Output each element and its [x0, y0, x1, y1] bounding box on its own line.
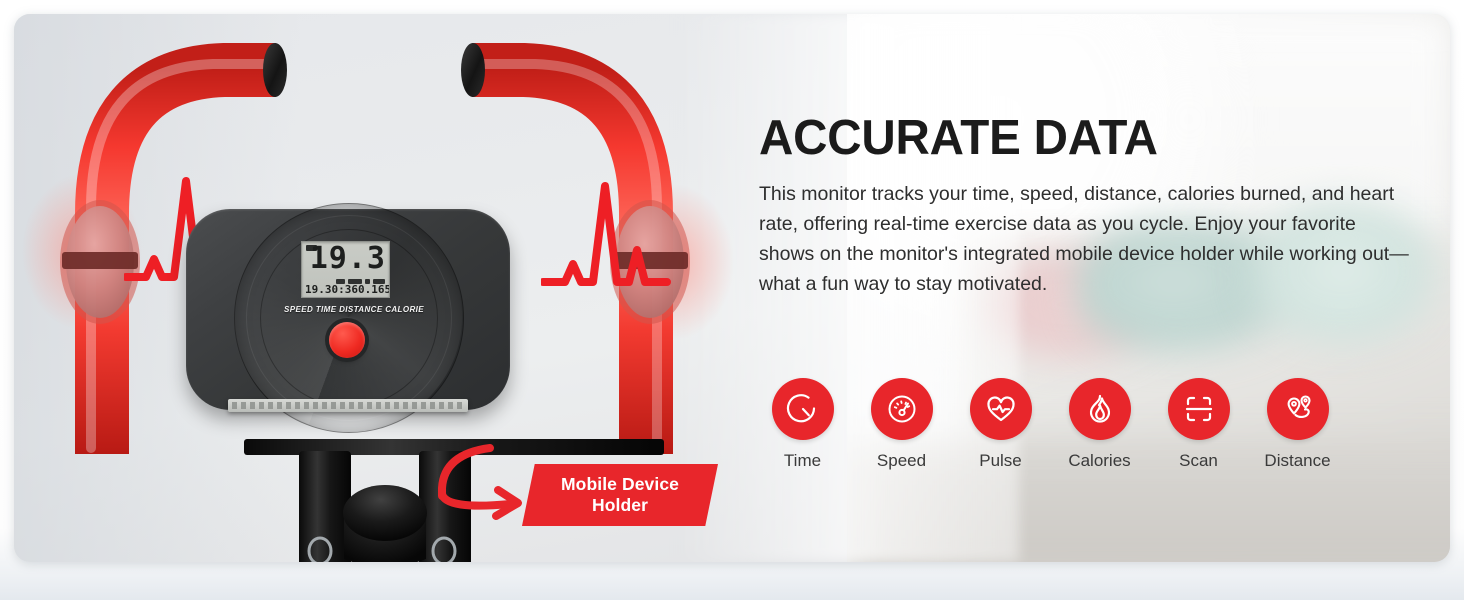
feature-icon-badge: [970, 378, 1032, 440]
feature-icon-badge: [1069, 378, 1131, 440]
body-paragraph: This monitor tracks your time, speed, di…: [759, 179, 1409, 299]
console-mode-button[interactable]: [329, 322, 365, 358]
callout-line-2: Holder: [561, 495, 679, 516]
callout-text: Mobile Device Holder: [561, 474, 679, 516]
feature-speed[interactable]: Speed: [852, 378, 951, 471]
lcd-speed-value: 19.3: [305, 283, 332, 296]
feature-time[interactable]: Time: [753, 378, 852, 471]
feature-icon-badge: [772, 378, 834, 440]
lcd-values-row: 19.3 0:36 0.16 5 P: [302, 282, 389, 296]
exercise-bike-product-image: 19.3 19.3 0:36 0.16 5 P: [14, 14, 734, 562]
copy-block: ACCURATE DATA This monitor tracks your t…: [745, 14, 1450, 562]
lcd-calorie-value: 5: [385, 283, 391, 296]
mobile-device-holder-tray: [228, 399, 468, 412]
map-pin-route-icon: [1281, 392, 1315, 426]
feature-label: Speed: [877, 451, 926, 471]
stopwatch-icon: [786, 392, 820, 426]
feature-label: Time: [784, 451, 821, 471]
page-title: ACCURATE DATA: [759, 110, 1158, 166]
scan-frame-icon: [1182, 392, 1216, 426]
feature-calories[interactable]: Calories: [1050, 378, 1149, 471]
tray-grip-pattern: [232, 402, 464, 409]
feature-icon-badge: [1168, 378, 1230, 440]
lcd-display: 19.3 19.3 0:36 0.16 5 P: [301, 241, 390, 298]
heart-pulse-icon: [984, 392, 1018, 426]
console-unit-labels: SPEED TIME DISTANCE CALORIE: [284, 305, 406, 314]
feature-scan[interactable]: Scan: [1149, 378, 1248, 471]
feature-label: Calories: [1068, 451, 1130, 471]
feature-icon-row: Time: [753, 378, 1353, 471]
bike-console: 19.3 19.3 0:36 0.16 5 P: [186, 209, 510, 410]
feature-label: Pulse: [979, 451, 1022, 471]
mobile-device-holder-callout: Mobile Device Holder: [522, 464, 718, 526]
flame-icon: [1083, 392, 1117, 426]
product-feature-banner: 19.3 19.3 0:36 0.16 5 P: [0, 0, 1464, 600]
lcd-distance-value: 0.16: [358, 283, 385, 296]
feature-label: Distance: [1264, 451, 1330, 471]
feature-icon-badge: [1267, 378, 1329, 440]
feature-pulse[interactable]: Pulse: [951, 378, 1050, 471]
ecg-waveform-right: [541, 164, 751, 344]
feature-label: Scan: [1179, 451, 1218, 471]
gauge-icon: [885, 392, 919, 426]
lcd-main-area: 19.3: [302, 242, 389, 280]
feature-icon-badge: [871, 378, 933, 440]
lcd-time-value: 0:36: [332, 283, 359, 296]
lcd-main-value: 19.3: [310, 242, 386, 276]
banner-panel: 19.3 19.3 0:36 0.16 5 P: [14, 14, 1450, 562]
callout-line-1: Mobile Device: [561, 474, 679, 495]
feature-distance[interactable]: Distance: [1248, 378, 1347, 471]
